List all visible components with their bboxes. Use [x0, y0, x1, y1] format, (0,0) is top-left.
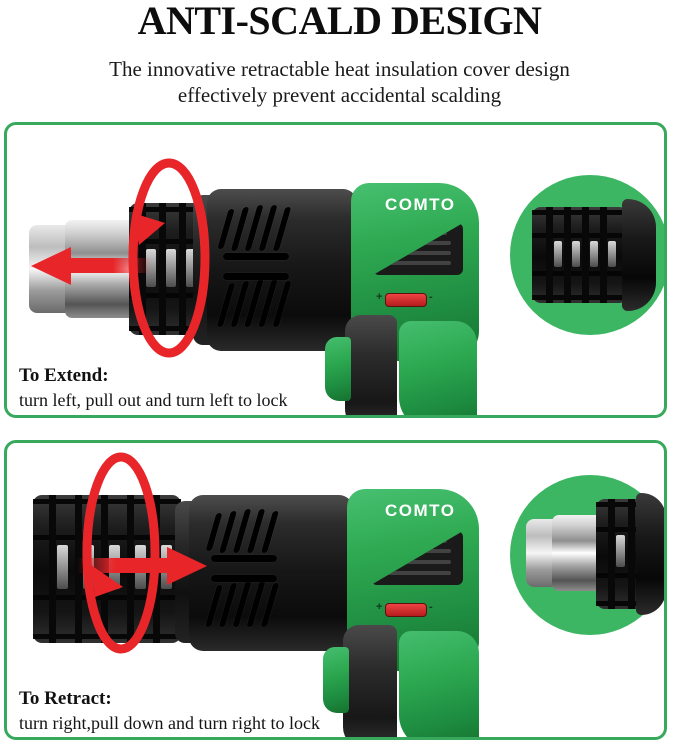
caption-retract: To Retract: turn right,pull down and tur…: [19, 688, 320, 734]
inset-cover-icon: [532, 207, 628, 303]
temperature-switch[interactable]: [385, 293, 427, 307]
inset-circle-extend: [510, 175, 667, 335]
page-title: ANTI-SCALD DESIGN: [0, 0, 679, 44]
inset-cover-end-cap: [636, 493, 666, 615]
caption-extend-body: turn left, pull out and turn left to loc…: [19, 389, 287, 411]
gun-handle: [399, 631, 479, 740]
brand-logo: COMTO: [385, 501, 455, 521]
subtitle-line-2: effectively prevent accidental scalding: [0, 82, 679, 108]
trigger[interactable]: [343, 625, 397, 740]
switch-plus-label: +: [376, 601, 382, 613]
handle-grip-pad: [325, 337, 351, 401]
switch-minus-label: -: [429, 291, 433, 303]
panel-extend: COMTO + -: [4, 122, 667, 418]
trigger[interactable]: [345, 315, 397, 418]
page-subtitle: The innovative retractable heat insulati…: [0, 56, 679, 108]
panel-retract: COMTO + -: [4, 440, 667, 740]
gun-handle: [399, 321, 477, 418]
temperature-switch[interactable]: [385, 603, 427, 617]
switch-minus-label: -: [429, 601, 433, 613]
push-in-arrow-right-icon: [77, 543, 207, 589]
header: ANTI-SCALD DESIGN The innovative retract…: [0, 0, 679, 118]
brand-logo: COMTO: [385, 195, 455, 215]
caption-retract-title: To Retract:: [19, 688, 320, 710]
inset-cover-end-cap: [622, 199, 656, 311]
subtitle-line-1: The innovative retractable heat insulati…: [109, 57, 570, 81]
pull-out-arrow-left-icon: [31, 243, 151, 289]
inset-circle-retract: [510, 475, 667, 635]
switch-plus-label: +: [376, 291, 382, 303]
caption-retract-body: turn right,pull down and turn right to l…: [19, 712, 320, 734]
caption-extend: To Extend: turn left, pull out and turn …: [19, 365, 287, 411]
handle-grip-pad: [323, 647, 349, 713]
caption-extend-title: To Extend:: [19, 365, 287, 387]
